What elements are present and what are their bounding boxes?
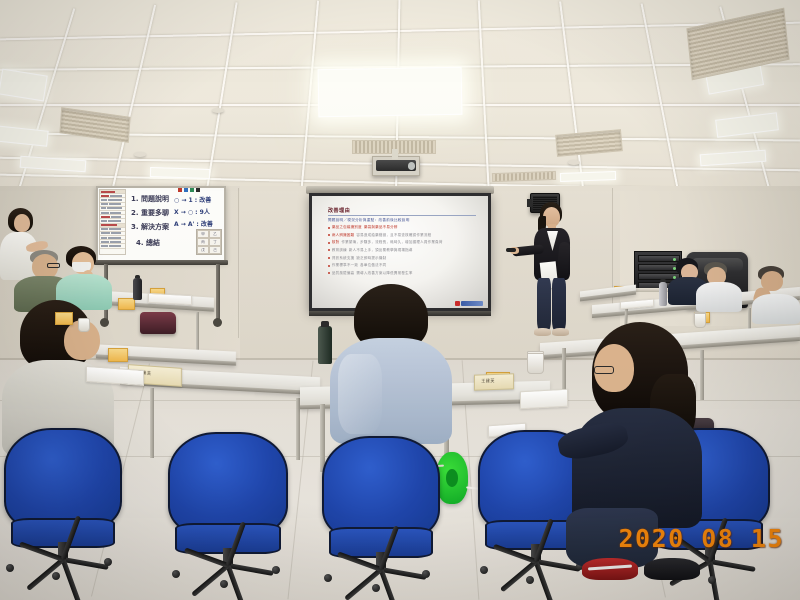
smoke-detector-icon (568, 160, 580, 165)
ceiling-light-panel (715, 112, 779, 137)
presentation-remote (506, 248, 516, 252)
slide-bullet-row: 資訊系統支援缺乏即時提示機制 (328, 256, 476, 261)
slide-bullet-row: 品質風險偏高需導入改善方案以降低異常發生率 (328, 271, 476, 276)
smoke-detector-icon (134, 152, 146, 157)
air-vent (686, 8, 789, 81)
ceiling-projector (372, 156, 420, 176)
ceiling (0, 0, 800, 196)
slide-subtitle: 問題說明／現況分析與重點：改善前後比較說明 (328, 218, 476, 223)
presenter-shoe (534, 328, 551, 336)
attendee-sneaker (644, 558, 700, 580)
water-bottle (659, 282, 667, 306)
cable-reel (436, 452, 468, 504)
whiteboard-line-2: 2. 重要多聊 (131, 210, 169, 217)
office-chair-empty[interactable] (4, 428, 122, 578)
name-tent (55, 312, 73, 325)
slide-bullet-row: 核對作業繁瑣，步驟多，流程長，耗時久，增加護理人員作業負荷 (328, 240, 476, 245)
attendee-right-man-white-1 (696, 262, 744, 310)
slide-content: 改善理由 問題說明／現況分析與重點：改善前後比較說明 藥品之包裝識別度藥袋與藥品… (328, 207, 476, 290)
classroom-photograph: 1. 問題說明 2. 重要多聊 3. 解決方案 4. 總結 ○ → 1 : 改善… (0, 0, 800, 600)
attendee-left-woman-mask (56, 246, 114, 308)
smoke-detector-icon (212, 108, 224, 113)
office-chair-empty[interactable] (168, 432, 288, 584)
whiteboard-grid-chart: 甲乙丙丁戊己 (196, 229, 222, 255)
whiteboard-line-3: 3. 解決方案 (131, 224, 169, 231)
slide-bullet-row: 作業標準不一致各單位做法不同 (328, 263, 476, 268)
whiteboard-symbol-3: A → A' : 改善 (174, 222, 213, 228)
water-bottle (133, 278, 142, 300)
whiteboard-symbol-2: X → ○ : 9人 (174, 210, 210, 216)
whiteboard-symbol-1: ○ → 1 : 改善 (174, 198, 211, 204)
ceiling-light-panel (700, 150, 767, 167)
camera-timestamp: 2020 08 15 (618, 524, 784, 553)
attendee-right-man-white-2 (752, 266, 800, 318)
air-vent (555, 129, 623, 157)
air-vent (492, 171, 556, 182)
slide-bullet-row: 教育訓練新人不易上手，須反覆教學與現場指導 (328, 248, 476, 253)
paper-cup (78, 318, 90, 332)
name-tent-center-named: 王建芙 (474, 373, 514, 390)
ceiling-light-panel (0, 69, 48, 102)
attendee-center-man-blue-shirt (330, 284, 454, 454)
ceiling-light-panel (150, 167, 210, 179)
whiteboard-tray (94, 260, 228, 265)
name-tent (108, 348, 128, 362)
office-chair-empty[interactable] (322, 436, 440, 588)
bag (140, 312, 176, 334)
slide-bullet-row: 藥品之包裝識別度藥袋與藥品不易分辨 (328, 225, 476, 230)
air-vent (59, 107, 130, 143)
ceiling-light-panel (560, 171, 616, 182)
presenter-left-leg (537, 278, 551, 330)
eyeglasses-icon (594, 366, 614, 374)
water-bottle (318, 326, 332, 364)
slide-bullet-row: 病人辨識困難容易造成給藥錯誤，且不易查核確認作業流程 (328, 233, 476, 238)
paper-cup (527, 352, 544, 374)
ceiling-light-panel (318, 67, 463, 118)
whiteboard-marker-tray (178, 188, 200, 192)
organization-logo-icon (455, 301, 483, 306)
ceiling-light-panel (0, 125, 49, 147)
whiteboard-line-1: 1. 問題說明 (131, 196, 169, 203)
name-tent (118, 298, 135, 310)
slide-title: 改善理由 (328, 207, 476, 216)
whiteboard-line-4: 4. 總結 (136, 240, 160, 247)
